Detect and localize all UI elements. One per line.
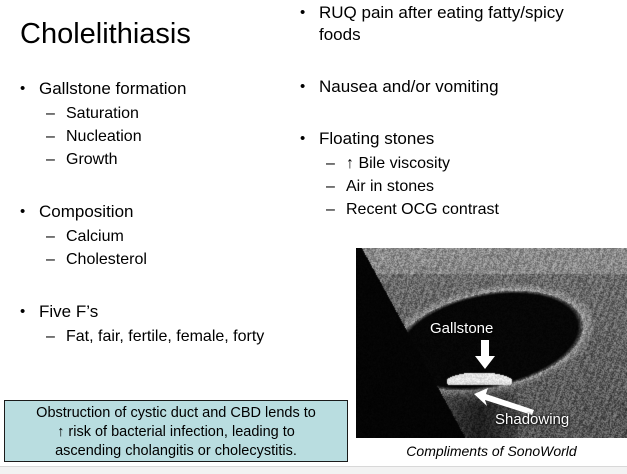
sub-bullet-air-in-stones: – Air in stones [288,175,623,198]
sub-bullet-label: Calcium [66,228,124,245]
bullet-composition: • Composition [8,201,308,223]
right-content-column: • RUQ pain after eating fatty/spicy food… [288,2,623,229]
dash-marker-icon: – [46,248,55,271]
bullet-five-fs: • Five F’s [8,301,308,323]
sub-bullet-calcium: – Calcium [8,225,308,248]
sub-bullet-recent-ocg-contrast: – Recent OCG contrast [288,198,623,221]
page-title: Cholelithiasis [20,18,191,51]
callout-line-1: Obstruction of cystic duct and CBD lends… [9,404,343,423]
bullet-group-gallstone-formation: • Gallstone formation – Saturation – Nuc… [8,78,308,171]
callout-line-3: ascending cholangitis or cholecystitis. [9,442,343,461]
sub-bullet-label: Cholesterol [66,251,147,268]
bullet-label: Floating stones [319,129,434,148]
bullet-label: Composition [39,202,134,221]
bullet-group-composition: • Composition – Calcium – Cholesterol [8,201,308,271]
bullet-gallstone-formation: • Gallstone formation [8,78,308,100]
sub-bullet-saturation: – Saturation [8,102,308,125]
bullet-marker-icon: • [20,78,25,100]
bullet-label-wrap: foods [319,24,623,46]
sub-bullet-five-fs-list: – Fat, fair, fertile, female, forty [8,325,308,348]
callout-box: Obstruction of cystic duct and CBD lends… [4,400,348,462]
dash-marker-icon: – [326,175,335,198]
spacer [288,106,623,128]
bullet-label: Nausea and/or vomiting [319,77,499,96]
sub-bullet-growth: – Growth [8,148,308,171]
dash-marker-icon: – [46,102,55,125]
callout-line-2: ↑ risk of bacterial infection, leading t… [9,423,343,442]
sub-bullet-cholesterol: – Cholesterol [8,248,308,271]
dash-marker-icon: – [326,198,335,221]
presentation-slide: Cholelithiasis • Gallstone formation – S… [0,0,627,474]
bullet-marker-icon: • [300,2,305,24]
bullet-label: Gallstone formation [39,79,186,98]
image-caption: Compliments of SonoWorld [356,443,627,459]
ultrasound-label-shadowing: Shadowing [495,411,569,428]
dash-marker-icon: – [46,325,55,348]
spacer [8,179,308,201]
sub-bullet-bile-viscosity: – ↑ Bile viscosity [288,152,623,175]
bullet-label: Five F’s [39,302,98,321]
gallstone-arrow-icon [474,340,496,370]
sub-bullet-label: ↑ Bile viscosity [346,155,450,172]
bullet-marker-icon: • [20,201,25,223]
bullet-marker-icon: • [300,128,305,150]
sub-bullet-label: Saturation [66,105,139,122]
sub-bullet-nucleation: – Nucleation [8,125,308,148]
sub-bullet-label: Nucleation [66,128,142,145]
sub-bullet-label: Growth [66,151,118,168]
dash-marker-icon: – [46,125,55,148]
dash-marker-icon: – [326,152,335,175]
sub-bullet-label: Recent OCG contrast [346,201,499,218]
bullet-label: RUQ pain after eating fatty/spicy [319,3,564,22]
slide-bottom-strip [0,466,627,474]
bullet-group-floating-stones: • Floating stones – ↑ Bile viscosity – A… [288,128,623,221]
spacer [288,54,623,76]
dash-marker-icon: – [46,148,55,171]
ultrasound-label-gallstone: Gallstone [430,320,493,337]
bullet-ruq-pain: • RUQ pain after eating fatty/spicy food… [288,2,623,46]
spacer [8,279,308,301]
left-content-column: • Gallstone formation – Saturation – Nuc… [8,78,308,356]
sub-bullet-label: Air in stones [346,178,434,195]
bullet-marker-icon: • [20,301,25,323]
ultrasound-image: Gallstone Shadowing [356,248,627,438]
bullet-group-five-fs: • Five F’s – Fat, fair, fertile, female,… [8,301,308,348]
bullet-marker-icon: • [300,76,305,98]
bullet-nausea-vomiting: • Nausea and/or vomiting [288,76,623,98]
bullet-group-nausea: • Nausea and/or vomiting [288,76,623,98]
bullet-floating-stones: • Floating stones [288,128,623,150]
sub-bullet-label: Fat, fair, fertile, female, forty [66,328,264,345]
bullet-group-ruq-pain: • RUQ pain after eating fatty/spicy food… [288,2,623,46]
dash-marker-icon: – [46,225,55,248]
